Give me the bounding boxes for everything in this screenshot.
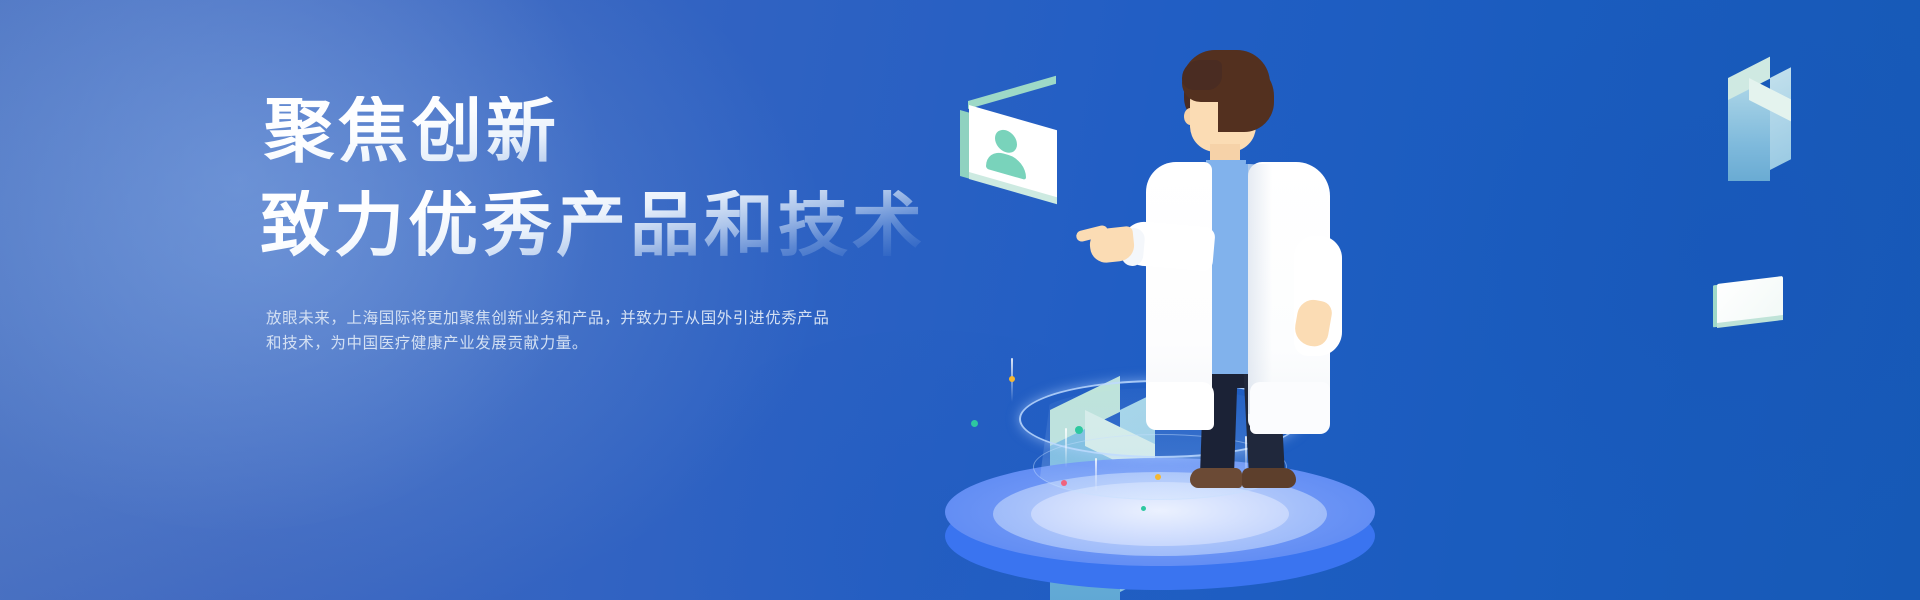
accent-dot [1141,506,1146,511]
accent-dot [1009,376,1015,382]
doctor-shoe-right [1242,468,1296,488]
headline-line-1: 聚焦创新 [264,96,980,166]
hero-banner: 聚焦创新 致力优秀产品和技术 放眼未来，上海国际将更加聚焦创新业务和产品，并致力… [0,0,1920,600]
accent-dot [1155,474,1161,480]
banner-subtitle: 放眼未来，上海国际将更加聚焦创新业务和产品，并致力于从国外引进优秀产品 和技术，… [266,306,866,356]
accent-dot [1061,480,1067,486]
isometric-block-top-right [1728,78,1798,178]
doctor-coat-shadow [1248,164,1272,414]
light-streak [1095,458,1097,492]
doctor-figure [1098,52,1398,472]
doctor-coat-hem-right [1250,382,1330,434]
banner-text-block: 聚焦创新 致力优秀产品和技术 放眼未来，上海国际将更加聚焦创新业务和产品，并致力… [260,96,980,356]
subtitle-line-1: 放眼未来，上海国际将更加聚焦创新业务和产品，并致力于从国外引进优秀产品 [266,306,866,331]
doctor-hair-tuft [1182,60,1222,90]
floating-card-right [1713,280,1785,326]
subtitle-line-2: 和技术，为中国医疗健康产业发展贡献力量。 [266,331,866,356]
doctor-shoe-left [1190,468,1242,488]
banner-illustration [1000,0,1920,600]
doctor-coat-hem-left [1146,382,1214,430]
avatar-card [960,100,1070,186]
headline-line-2: 致力优秀产品和技术 [260,190,980,260]
avatar-card-top-edge [968,76,1056,109]
light-streak [1065,428,1067,468]
accent-dot [1075,426,1083,434]
accent-dot [971,420,978,427]
